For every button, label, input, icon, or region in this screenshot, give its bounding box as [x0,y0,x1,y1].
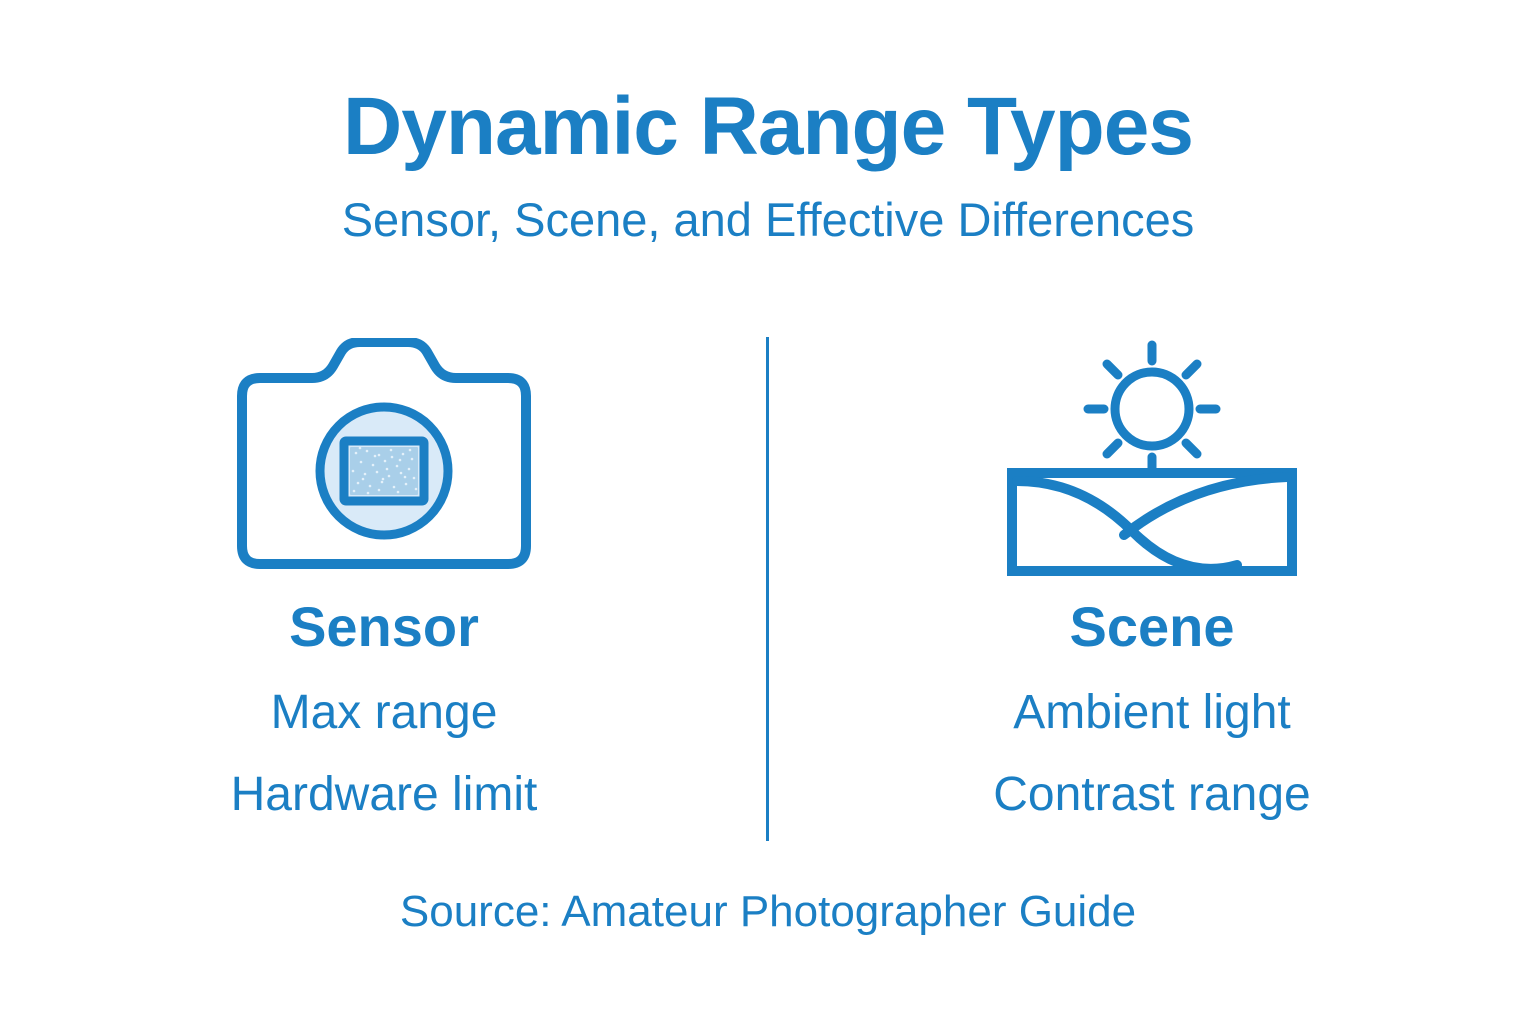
column-line-sensor-1: Max range [271,689,498,737]
sun-landscape-scene-icon [1002,333,1302,583]
column-line-sensor-2: Hardware limit [231,771,538,819]
camera-sensor-rect-fill [350,447,418,495]
column-line-scene-1: Ambient light [1013,689,1290,737]
sun-rays [1088,345,1216,473]
page-subtitle: Sensor, Scene, and Effective Differences [0,196,1536,243]
column-scene: Scene Ambient light Contrast range [768,330,1536,819]
column-heading-scene: Scene [1070,599,1235,655]
infographic-page: Dynamic Range Types Sensor, Scene, and E… [0,0,1536,1024]
camera-sensor-icon [234,338,534,578]
column-sensor: Sensor Max range Hardware limit [0,330,768,819]
sun-landscape-scene-icon-wrap [1002,330,1302,585]
columns-container: Sensor Max range Hardware limit [0,330,1536,850]
sun-disc [1115,372,1189,446]
source-attribution: Source: Amateur Photographer Guide [0,890,1536,934]
camera-sensor-icon-wrap [234,330,534,585]
landscape-hill-curve-back [1124,477,1287,535]
column-line-scene-2: Contrast range [993,771,1311,819]
column-heading-sensor: Sensor [289,599,479,655]
page-title: Dynamic Range Types [0,86,1536,168]
header: Dynamic Range Types Sensor, Scene, and E… [0,86,1536,243]
